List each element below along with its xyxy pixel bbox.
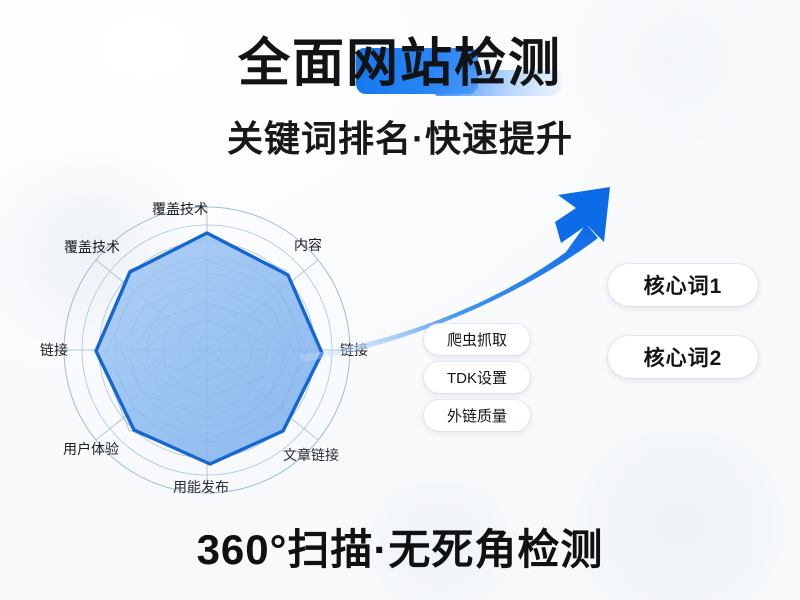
keyword-pill-1[interactable]: 核心词1 bbox=[608, 264, 758, 306]
footer-slogan: 360°扫描·无死角检测 bbox=[0, 524, 800, 576]
radar-data-polygon bbox=[96, 233, 322, 464]
tag-pill-tdk[interactable]: TDK设置 bbox=[424, 362, 530, 393]
headline-block: 全面网站检测 bbox=[0, 34, 800, 94]
page-title: 全面网站检测 bbox=[238, 34, 562, 94]
radar-axis-label-bottom-left: 用户体验 bbox=[63, 440, 119, 458]
keyword-pill-2[interactable]: 核心词2 bbox=[608, 336, 758, 378]
tag-pill-backlink[interactable]: 外链质量 bbox=[424, 400, 530, 431]
radar-axis-label-top: 覆盖技术 bbox=[152, 200, 208, 218]
radar-axis-label-top-left: 覆盖技术 bbox=[64, 238, 120, 256]
page-subtitle: 关键词排名·快速提升 bbox=[0, 116, 800, 162]
poster-canvas: 全面网站检测 关键词排名·快速提升 bbox=[0, 0, 800, 600]
tag-pill-crawl[interactable]: 爬虫抓取 bbox=[424, 324, 530, 355]
radar-axis-label-bottom-right: 文章链接 bbox=[283, 446, 339, 464]
radar-axis-label-left: 链接 bbox=[40, 341, 68, 359]
headline-inner: 全面网站检测 bbox=[238, 34, 562, 94]
radar-axis-label-bottom: 用能发布 bbox=[173, 478, 229, 496]
